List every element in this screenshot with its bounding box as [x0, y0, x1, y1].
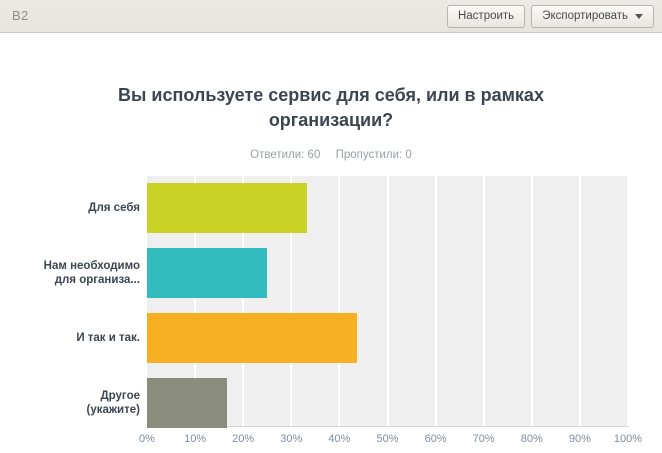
- survey-chart-app: B2 Настроить Экспортировать Вы используе…: [0, 0, 662, 439]
- category-label: И так и так.: [6, 331, 140, 345]
- skipped-count: Пропустили: 0: [336, 149, 412, 161]
- chart-response-summary: Ответили: 60 Пропустили: 0: [81, 149, 581, 161]
- x-tick-label: 20%: [232, 433, 254, 445]
- question-id-label: B2: [12, 8, 29, 23]
- category-label: Другое(укажите): [6, 389, 140, 417]
- x-tick-label: 80%: [521, 433, 543, 445]
- category-label-line: (укажите): [6, 403, 140, 417]
- chevron-down-icon: [635, 14, 643, 19]
- chart-card: Вы используете сервис для себя, или в ра…: [0, 33, 662, 439]
- x-axis-tick-labels: 0%10%20%30%40%50%60%70%80%90%100%: [147, 433, 628, 453]
- bar[interactable]: [147, 248, 267, 298]
- category-label-line: Для себя: [6, 201, 140, 215]
- category-label-line: для организа...: [6, 273, 140, 287]
- export-button-label: Экспортировать: [542, 10, 628, 22]
- category-label: Нам необходимодля организа...: [6, 259, 140, 287]
- category-label: Для себя: [6, 201, 140, 215]
- x-tick-label: 30%: [280, 433, 302, 445]
- chart-title: Вы используете сервис для себя, или в ра…: [81, 83, 581, 133]
- category-axis-labels: Для себяНам необходимодля организа...И т…: [0, 176, 140, 426]
- configure-button[interactable]: Настроить: [447, 5, 525, 28]
- x-tick-label: 60%: [425, 433, 447, 445]
- category-label-line: Нам необходимо: [6, 259, 140, 273]
- toolbar-actions: Настроить Экспортировать: [447, 5, 654, 28]
- bar[interactable]: [147, 183, 307, 233]
- category-label-line: И так и так.: [6, 331, 140, 345]
- x-tick-label: 100%: [614, 433, 642, 445]
- x-tick-label: 70%: [473, 433, 495, 445]
- bar-series: [147, 176, 628, 426]
- x-tick-label: 90%: [569, 433, 591, 445]
- bar[interactable]: [147, 378, 227, 428]
- x-tick-label: 50%: [376, 433, 398, 445]
- answered-count: Ответили: 60: [250, 149, 320, 161]
- x-tick-label: 0%: [139, 433, 155, 445]
- x-tick-label: 40%: [328, 433, 350, 445]
- toolbar: B2 Настроить Экспортировать: [0, 0, 662, 33]
- x-tick-label: 10%: [184, 433, 206, 445]
- export-button[interactable]: Экспортировать: [531, 5, 654, 28]
- category-label-line: Другое: [6, 389, 140, 403]
- bar[interactable]: [147, 313, 357, 363]
